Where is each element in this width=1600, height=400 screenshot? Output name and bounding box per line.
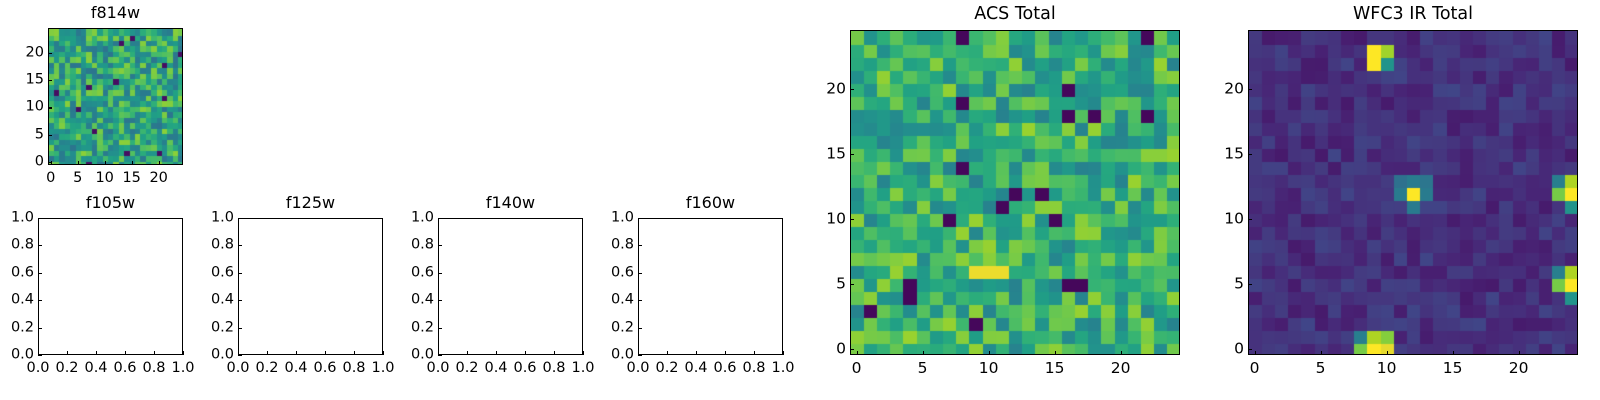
x-tick-mark [1055,351,1056,355]
x-tick-label: 0.4 [84,361,107,376]
x-tick-mark [159,161,160,165]
x-tick-mark [105,161,106,165]
x-tick-mark [325,351,326,355]
y-tick-mark [38,300,42,301]
x-tick-mark [132,161,133,165]
y-tick-mark [238,245,242,246]
y-tick-label: 0.8 [0,238,34,253]
y-tick-label: 15 [1202,146,1244,161]
x-tick-label: 0.0 [226,361,249,376]
x-tick-label: 0.0 [626,361,649,376]
y-tick-mark [438,355,442,356]
x-tick-label: 0.6 [113,361,136,376]
y-tick-mark [48,53,52,54]
x-tick-label: 20 [149,171,167,186]
x-tick-mark [183,351,184,355]
x-tick-label: 0.4 [484,361,507,376]
y-tick-label: 5 [2,127,44,142]
panel-title: f814w [48,4,183,21]
panel-f160w: f160w0.00.20.40.60.81.00.00.20.40.60.81.… [592,192,789,381]
x-tick-label: 0.4 [284,361,307,376]
y-tick-label: 10 [1202,211,1244,226]
x-tick-label: 0.8 [342,361,365,376]
y-tick-mark [238,300,242,301]
y-tick-mark [638,300,642,301]
x-tick-mark [783,351,784,355]
axes-f125w [238,218,383,355]
x-tick-label: 15 [122,171,140,186]
y-tick-label: 0.4 [192,293,234,308]
y-tick-label: 20 [2,45,44,60]
y-tick-label: 0.8 [392,238,434,253]
y-tick-mark [438,328,442,329]
x-tick-label: 0.2 [255,361,278,376]
y-tick-label: 10 [2,100,44,115]
x-tick-label: 0.6 [513,361,536,376]
y-tick-mark [1248,349,1252,350]
x-tick-label: 0 [46,171,55,186]
panel-acs_total: ACS Total0510152005101520 [804,4,1186,381]
y-tick-label: 20 [804,81,846,96]
x-tick-mark [296,351,297,355]
x-tick-label: 0.2 [455,361,478,376]
y-tick-label: 10 [804,211,846,226]
y-tick-mark [238,218,242,219]
y-tick-mark [1248,284,1252,285]
x-tick-label: 0.6 [713,361,736,376]
x-tick-mark [1255,351,1256,355]
y-tick-mark [850,349,854,350]
x-tick-mark [583,351,584,355]
x-tick-label: 0 [852,361,862,376]
panel-title: f105w [38,194,183,211]
y-tick-label: 0.8 [592,238,634,253]
axes-f140w [438,218,583,355]
x-tick-mark [754,351,755,355]
x-tick-mark [989,351,990,355]
y-tick-mark [48,135,52,136]
y-tick-label: 0 [804,341,846,356]
y-tick-mark [38,328,42,329]
y-tick-label: 20 [1202,81,1244,96]
y-tick-mark [638,355,642,356]
y-tick-label: 0.0 [192,348,234,363]
x-tick-label: 0.2 [655,361,678,376]
y-tick-label: 1.0 [592,211,634,226]
y-tick-label: 5 [804,276,846,291]
x-tick-label: 1.0 [771,361,794,376]
axes-f160w [638,218,783,355]
y-tick-mark [1248,89,1252,90]
x-tick-label: 5 [1316,361,1326,376]
y-tick-label: 0.0 [592,348,634,363]
y-tick-label: 0.6 [0,265,34,280]
x-tick-mark [923,351,924,355]
x-tick-label: 0.4 [684,361,707,376]
y-tick-label: 0.4 [0,293,34,308]
y-tick-label: 0.6 [592,265,634,280]
x-tick-label: 0.0 [426,361,449,376]
y-tick-label: 0 [1202,341,1244,356]
x-tick-label: 15 [1443,361,1463,376]
y-tick-label: 5 [1202,276,1244,291]
panel-f105w: f105w0.00.20.40.60.81.00.00.20.40.60.81.… [0,192,189,381]
x-tick-mark [554,351,555,355]
y-tick-mark [48,107,52,108]
y-tick-label: 0.0 [0,348,34,363]
x-tick-label: 10 [1377,361,1397,376]
x-tick-mark [354,351,355,355]
x-tick-label: 0.6 [313,361,336,376]
x-tick-mark [267,351,268,355]
x-tick-mark [1121,351,1122,355]
y-tick-mark [38,245,42,246]
x-tick-mark [467,351,468,355]
x-tick-mark [383,351,384,355]
x-tick-label: 15 [1045,361,1065,376]
y-tick-mark [850,284,854,285]
x-tick-mark [1387,351,1388,355]
y-tick-label: 0.2 [392,320,434,335]
panel-title: f160w [638,194,783,211]
panel-f140w: f140w0.00.20.40.60.81.00.00.20.40.60.81.… [392,192,589,381]
y-tick-label: 0.2 [592,320,634,335]
y-tick-mark [48,162,52,163]
y-tick-label: 0.2 [0,320,34,335]
y-tick-mark [438,245,442,246]
heatmap-image-f814w [49,29,183,165]
panel-wfc3_ir_total: WFC3 IR Total0510152005101520 [1202,4,1584,381]
y-tick-mark [438,218,442,219]
x-tick-mark [696,351,697,355]
x-tick-mark [725,351,726,355]
y-tick-mark [38,218,42,219]
x-tick-mark [96,351,97,355]
x-tick-mark [78,161,79,165]
y-tick-mark [38,355,42,356]
y-tick-label: 1.0 [192,211,234,226]
y-tick-mark [48,80,52,81]
y-tick-mark [238,328,242,329]
y-tick-label: 0.4 [392,293,434,308]
heatmap-image-acs_total [851,31,1180,355]
panel-title: f125w [238,194,383,211]
panel-f125w: f125w0.00.20.40.60.81.00.00.20.40.60.81.… [192,192,389,381]
y-tick-mark [1248,219,1252,220]
x-tick-mark [525,351,526,355]
y-tick-label: 1.0 [0,211,34,226]
y-tick-label: 0 [2,155,44,170]
y-tick-label: 15 [2,73,44,88]
x-tick-label: 10 [95,171,113,186]
y-tick-mark [638,218,642,219]
x-tick-label: 20 [1509,361,1529,376]
panel-f814w: f814w0510152005101520 [2,2,189,191]
x-tick-mark [496,351,497,355]
y-tick-mark [438,273,442,274]
panel-title: ACS Total [850,6,1180,23]
x-tick-mark [125,351,126,355]
y-tick-label: 15 [804,146,846,161]
y-tick-mark [38,273,42,274]
x-tick-label: 10 [979,361,999,376]
axes-f814w [48,28,183,165]
x-tick-label: 20 [1111,361,1131,376]
x-tick-label: 0.8 [742,361,765,376]
panel-title: f140w [438,194,583,211]
x-tick-label: 0.8 [542,361,565,376]
heatmap-image-wfc3_ir_total [1249,31,1578,355]
x-tick-mark [667,351,668,355]
axes-f105w [38,218,183,355]
y-tick-label: 0.6 [192,265,234,280]
y-tick-mark [438,300,442,301]
x-tick-mark [1453,351,1454,355]
y-tick-label: 0.0 [392,348,434,363]
y-tick-mark [238,355,242,356]
y-tick-label: 0.4 [592,293,634,308]
x-tick-mark [67,351,68,355]
x-tick-label: 0.8 [142,361,165,376]
y-tick-mark [850,219,854,220]
x-tick-label: 0.2 [55,361,78,376]
y-tick-mark [1248,154,1252,155]
x-tick-mark [154,351,155,355]
y-tick-mark [638,328,642,329]
y-tick-label: 1.0 [392,211,434,226]
axes-acs_total [850,30,1180,355]
y-tick-label: 0.8 [192,238,234,253]
y-tick-mark [638,245,642,246]
y-tick-mark [850,154,854,155]
y-tick-mark [638,273,642,274]
y-tick-label: 0.2 [192,320,234,335]
y-tick-label: 0.6 [392,265,434,280]
axes-wfc3_ir_total [1248,30,1578,355]
x-tick-label: 5 [73,171,82,186]
x-tick-label: 5 [918,361,928,376]
x-tick-label: 0.0 [26,361,49,376]
y-tick-mark [850,89,854,90]
x-tick-mark [1321,351,1322,355]
x-tick-mark [1519,351,1520,355]
x-tick-label: 0 [1250,361,1260,376]
panel-title: WFC3 IR Total [1248,6,1578,23]
x-tick-mark [857,351,858,355]
y-tick-mark [238,273,242,274]
matplotlib-figure: f814w0510152005101520f105w0.00.20.40.60.… [0,0,1600,400]
